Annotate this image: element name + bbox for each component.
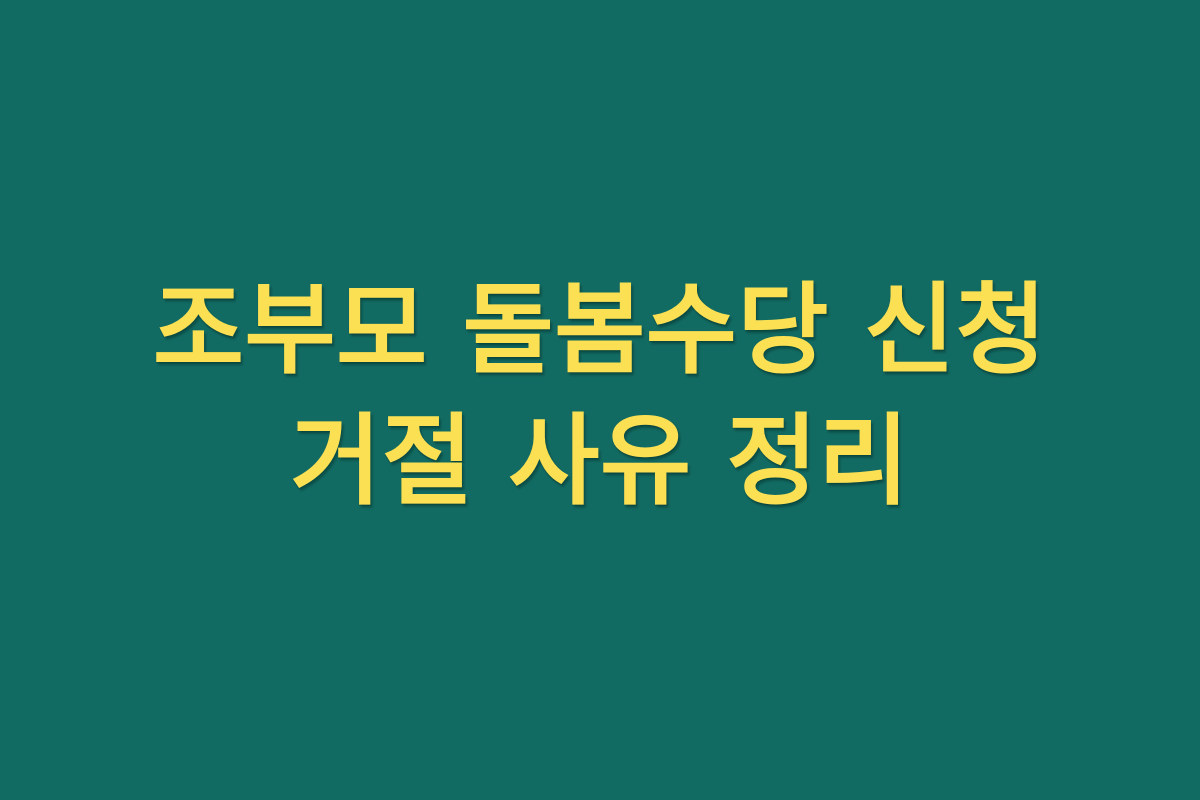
thumbnail-card: 조부모 돌봄수당 신청 거절 사유 정리: [0, 0, 1200, 800]
title-block: 조부모 돌봄수당 신청 거절 사유 정리: [0, 266, 1200, 527]
title-line-1: 조부모 돌봄수당 신청: [0, 266, 1200, 397]
title-line-2: 거절 사유 정리: [0, 397, 1200, 528]
